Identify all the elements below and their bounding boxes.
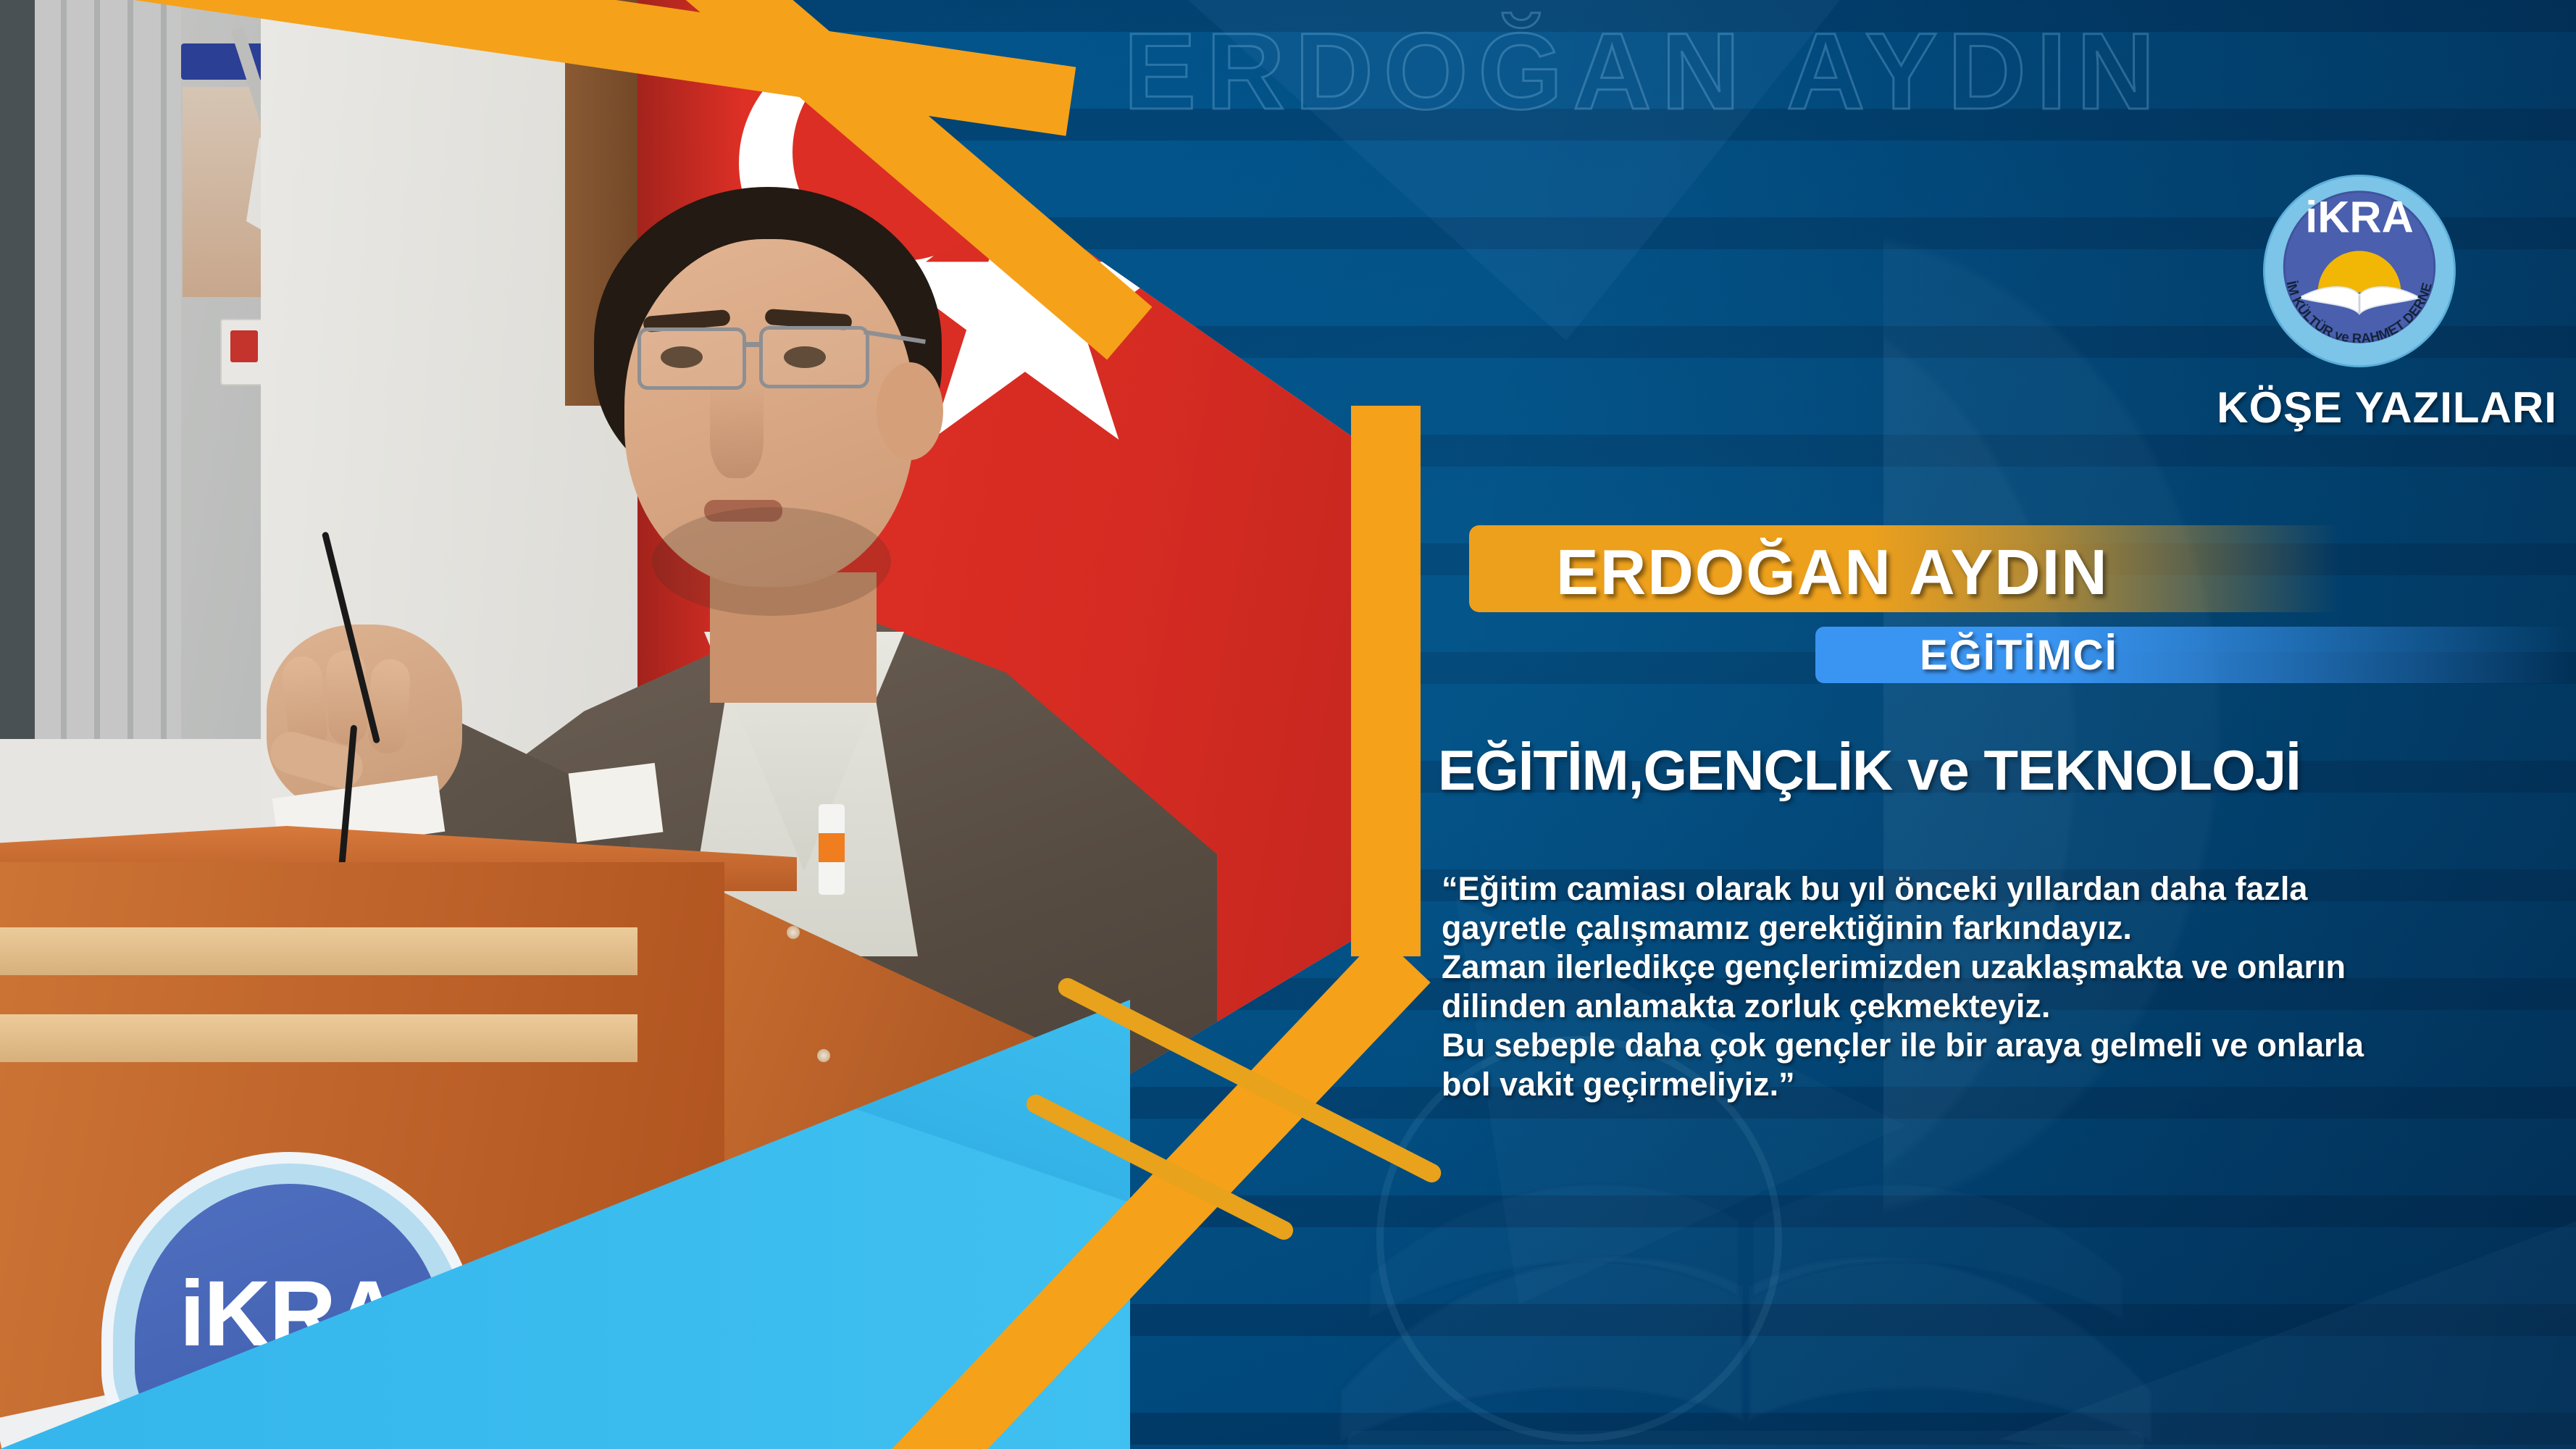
quote-line: Bu sebeple daha çok gençler ile bir aray… xyxy=(1442,1026,2528,1065)
podium-trim-bar xyxy=(0,1014,637,1062)
podium-screw xyxy=(787,926,800,939)
marker-pen-band xyxy=(819,833,845,862)
author-role: EĞİTİMCİ xyxy=(1920,631,2118,680)
podium-trim-bar xyxy=(0,927,637,975)
name-badge xyxy=(569,763,664,843)
section-label: KÖŞE YAZILARI xyxy=(2195,383,2576,433)
eyeglasses-lens-left xyxy=(637,327,746,390)
quote-line: gayretle çalışmamız gerektiğinin farkınd… xyxy=(1442,909,2528,948)
photo-dark-edge xyxy=(0,0,35,761)
speaker-finger xyxy=(326,650,369,746)
article-headline: EĞİTİM,GENÇLİK ve TEKNOLOJİ xyxy=(1438,738,2554,803)
open-book-watermark-icon xyxy=(1326,1130,2166,1449)
article-quote: “Eğitim camiası olarak bu yıl önceki yıl… xyxy=(1442,869,2528,1104)
quote-line: bol vakit geçirmeliyiz.” xyxy=(1442,1065,2528,1104)
author-role-banner: EĞİTİMCİ xyxy=(1815,627,2569,683)
watermark-title: ERDOĞAN AYDIN xyxy=(862,6,2427,136)
eyeglasses-bridge xyxy=(745,342,762,347)
speaker-chin-shadow xyxy=(652,507,891,616)
ikra-logo[interactable]: iKRA İLİM KÜLTÜR ve RAHMET DERNEĞİ xyxy=(2259,170,2460,372)
author-name-banner: ERDOĞAN AYDIN xyxy=(1469,525,2338,612)
poster-canvas: ERDOĞAN AYDIN xyxy=(0,0,2576,1449)
speaker-ear xyxy=(877,362,943,460)
speaker-nose xyxy=(710,384,764,478)
quote-line: Zaman ilerledikçe gençlerimizden uzaklaş… xyxy=(1442,948,2528,987)
eyeglasses-lens-right xyxy=(759,326,869,388)
svg-text:iKRA: iKRA xyxy=(2305,192,2414,241)
podium-screw xyxy=(817,1049,830,1062)
quote-line: “Eğitim camiası olarak bu yıl önceki yıl… xyxy=(1442,869,2528,909)
author-name: ERDOĞAN AYDIN xyxy=(1556,535,2109,609)
quote-line: dilinden anlamakta zorluk çekmekteyiz. xyxy=(1442,987,2528,1026)
